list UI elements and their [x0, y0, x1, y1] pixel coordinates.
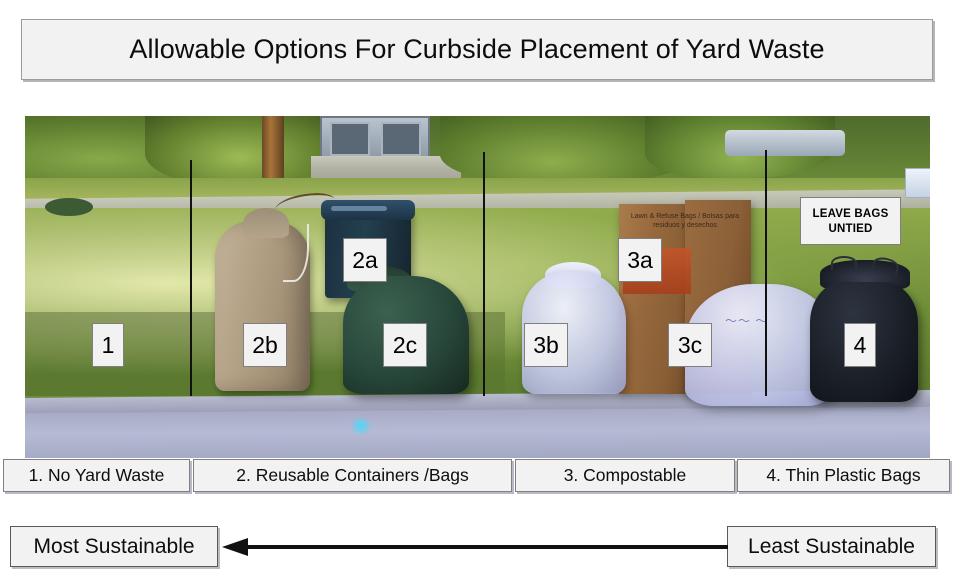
- page-title-text: Allowable Options For Curbside Placement…: [129, 34, 824, 65]
- category-label-2: 2. Reusable Containers /Bags: [236, 465, 469, 486]
- photo-divider-3: [765, 150, 767, 396]
- slide-root: Allowable Options For Curbside Placement…: [0, 0, 954, 586]
- category-box-3[interactable]: 3. Compostable: [515, 459, 735, 492]
- sustainability-arrow: [222, 537, 728, 557]
- cart-lid-highlight-icon: [331, 206, 387, 211]
- least-sustainable-label: Least Sustainable: [748, 535, 915, 559]
- street: [25, 407, 930, 458]
- bag-3c-print-squiggle-icon: 〜〜 〜: [725, 312, 768, 329]
- leave-bags-untied-callout: LEAVE BAGS UNTIED: [800, 197, 901, 245]
- photo-divider-1: [190, 160, 192, 396]
- most-sustainable-box: Most Sustainable: [10, 526, 218, 567]
- least-sustainable-box: Least Sustainable: [727, 526, 936, 567]
- door-pane-left-icon: [330, 122, 370, 156]
- photo-label-3c: 3c: [668, 323, 712, 367]
- category-label-3: 3. Compostable: [564, 465, 687, 486]
- street-paint-mark: [350, 416, 372, 436]
- photo-label-4: 4: [844, 323, 876, 367]
- door-pane-right-icon: [381, 122, 421, 156]
- bag-4-ear-left-icon: [831, 256, 857, 270]
- green-lid-object-icon: [45, 198, 93, 216]
- callout-line-2: UNTIED: [828, 223, 872, 235]
- photo-label-2c: 2c: [383, 323, 427, 367]
- tree-trunk-icon: [262, 116, 284, 180]
- callout-line-1: LEAVE BAGS: [813, 208, 889, 220]
- photo-label-3a: 3a: [618, 238, 662, 282]
- photo-label-2b: 2b: [243, 323, 287, 367]
- shrub-left-2-icon: [145, 116, 335, 186]
- category-label-4: 4. Thin Plastic Bags: [766, 465, 920, 486]
- photo-label-2a: 2a: [343, 238, 387, 282]
- photo-label-3b: 3b: [524, 323, 568, 367]
- category-label-1: 1. No Yard Waste: [29, 465, 165, 486]
- category-box-2[interactable]: 2. Reusable Containers /Bags: [193, 459, 512, 492]
- arrow-left-icon: [222, 537, 728, 557]
- category-box-1[interactable]: 1. No Yard Waste: [3, 459, 190, 492]
- photo-label-1: 1: [92, 323, 124, 367]
- parked-vehicle-icon: [725, 130, 845, 156]
- photo-divider-2: [483, 152, 485, 396]
- page-title: Allowable Options For Curbside Placement…: [21, 19, 933, 80]
- most-sustainable-label: Most Sustainable: [33, 535, 194, 559]
- curbside-photo: Lawn & Refuse Bags / Bolsas para residuo…: [25, 116, 930, 458]
- yard-sign-icon: [905, 168, 930, 198]
- kraft-bag-print-text: Lawn & Refuse Bags / Bolsas para residuo…: [625, 212, 745, 230]
- category-box-4[interactable]: 4. Thin Plastic Bags: [737, 459, 950, 492]
